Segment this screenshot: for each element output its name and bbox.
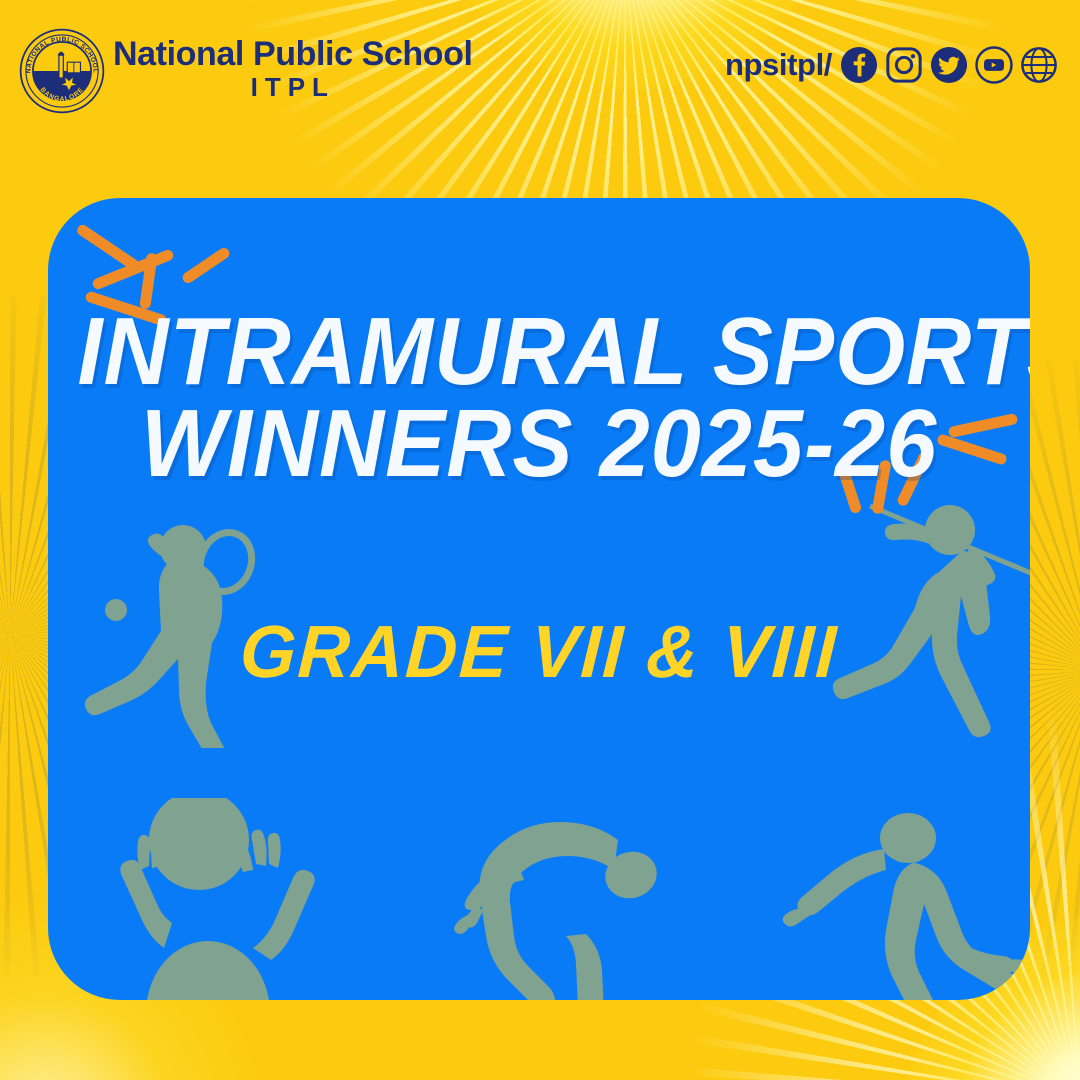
brand-line-1: National Public School xyxy=(113,36,473,72)
website-globe-icon[interactable] xyxy=(1020,46,1058,84)
title-block: INTRAMURAL SPORTS WINNERS 2025-26 xyxy=(48,306,1030,490)
poster-subtitle: GRADE VII & VIII xyxy=(61,613,1018,691)
spark-decoration xyxy=(181,246,232,285)
instagram-icon[interactable] xyxy=(885,46,923,84)
volleyball-player-silhouette xyxy=(68,798,348,1000)
social-links: npsitpl/ xyxy=(725,46,1058,84)
spark-decoration xyxy=(75,223,141,272)
poster-title-line-2: WINNERS 2025-26 xyxy=(77,398,1000,490)
footballer-silhouette xyxy=(758,798,1030,1000)
brand-line-2: ITPL xyxy=(113,72,473,102)
youtube-icon[interactable] xyxy=(975,46,1013,84)
brand-name: National Public School ITPL xyxy=(113,36,473,102)
header: NATIONAL PUBLIC SCHOOL BANGALORE Nationa… xyxy=(0,0,1080,140)
poster-title-line-1: INTRAMURAL SPORTS xyxy=(77,306,1000,398)
main-card: INTRAMURAL SPORTS WINNERS 2025-26 GRADE … xyxy=(48,198,1030,1000)
social-handle: npsitpl/ xyxy=(725,47,832,83)
poster-canvas: NATIONAL PUBLIC SCHOOL BANGALORE Nationa… xyxy=(0,0,1080,1080)
sprinter-silhouette xyxy=(438,818,738,1000)
facebook-icon[interactable] xyxy=(840,46,878,84)
twitter-icon[interactable] xyxy=(930,46,968,84)
school-crest-icon: NATIONAL PUBLIC SCHOOL BANGALORE xyxy=(18,27,106,115)
